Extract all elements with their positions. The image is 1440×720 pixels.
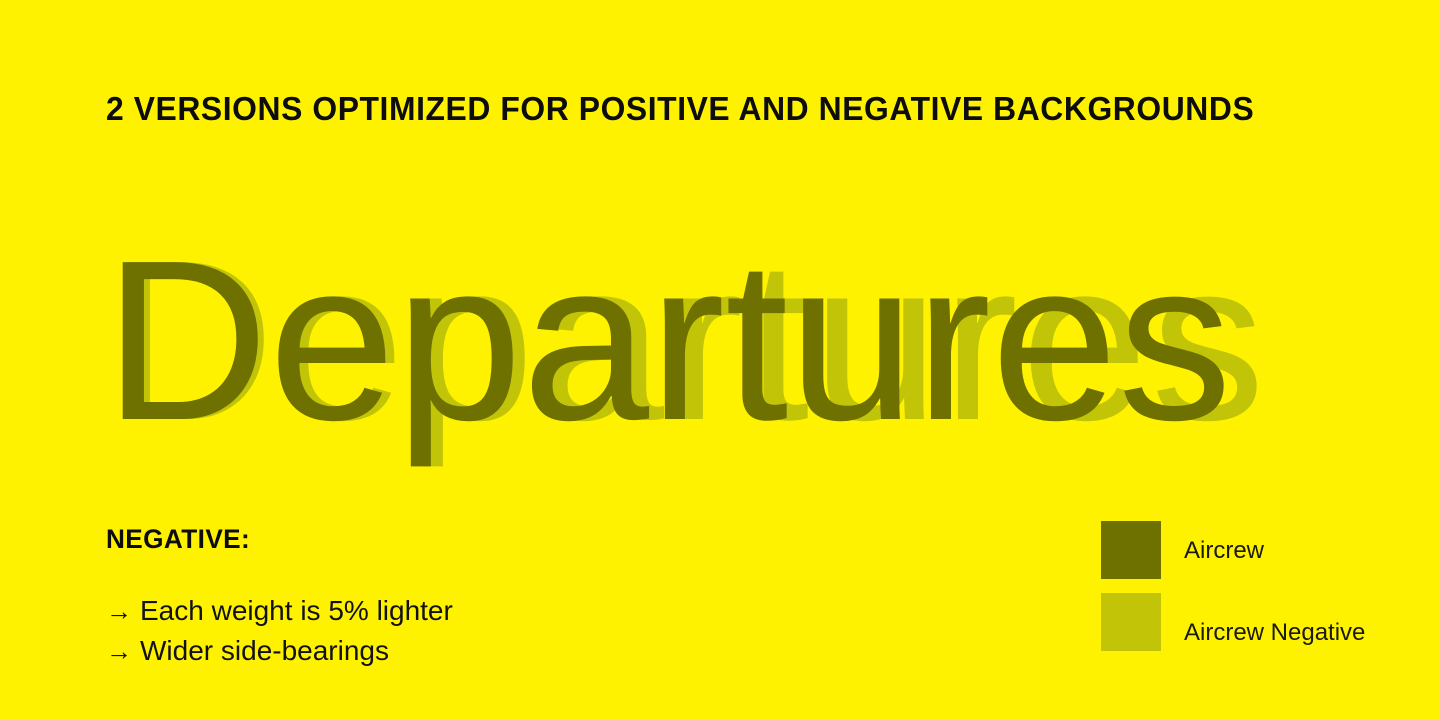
arrow-right-icon: → (106, 631, 140, 671)
notes-list: → Each weight is 5% lighter → Wider side… (106, 591, 453, 671)
color-swatch-aircrew (1101, 521, 1161, 579)
notes-heading: NEGATIVE: (106, 524, 442, 555)
legend-label-aircrew: Aircrew (1184, 537, 1264, 565)
list-item: → Each weight is 5% lighter (106, 591, 453, 631)
notes-block: NEGATIVE: → Each weight is 5% lighter → … (106, 524, 453, 671)
arrow-right-icon: → (106, 591, 140, 631)
type-specimen-slide: 2 VERSIONS OPTIMIZED FOR POSITIVE AND NE… (0, 0, 1440, 720)
color-swatch-aircrew-negative (1101, 593, 1161, 651)
list-item: → Wider side-bearings (106, 631, 453, 671)
list-item-label: Wider side-bearings (140, 631, 389, 671)
page-title: 2 VERSIONS OPTIMIZED FOR POSITIVE AND NE… (106, 90, 1254, 128)
legend-label-aircrew-negative: Aircrew Negative (1184, 619, 1365, 647)
list-item-label: Each weight is 5% lighter (140, 591, 453, 631)
specimen-word-positive: Departures (104, 206, 1232, 476)
specimen-word-stack: Departures Departures (0, 206, 1440, 476)
